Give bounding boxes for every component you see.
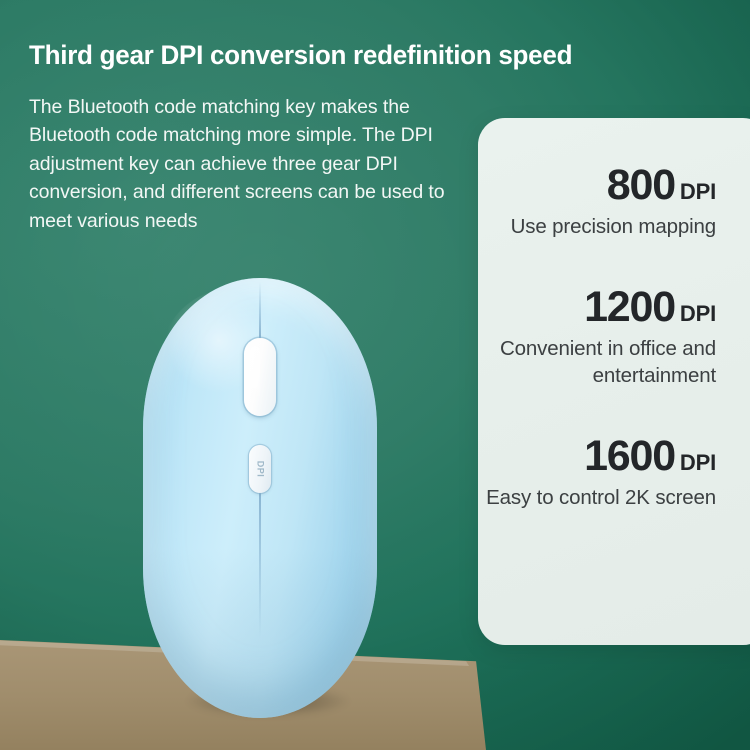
mouse-dpi-button-label: DPI <box>255 461 265 478</box>
spec-card: 800 DPI Use precision mapping 1200 DPI C… <box>478 118 750 645</box>
spec-value-row: 1200 DPI <box>478 286 716 330</box>
mouse-highlight <box>159 288 309 438</box>
spec-unit: DPI <box>680 450 716 476</box>
mouse-seam-lower <box>259 478 261 638</box>
spec-value-row: 1600 DPI <box>478 435 716 479</box>
spec-unit: DPI <box>680 179 716 205</box>
body-paragraph: The Bluetooth code matching key makes th… <box>29 93 459 236</box>
spec-item-1200: 1200 DPI Convenient in office and entert… <box>478 286 716 389</box>
spec-item-1600: 1600 DPI Easy to control 2K screen <box>478 435 716 511</box>
mouse-dpi-button: DPI <box>249 445 271 493</box>
spec-value: 1200 <box>584 286 675 330</box>
marketing-banner: Third gear DPI conversion redefinition s… <box>0 0 750 750</box>
mouse-seam-upper <box>259 282 261 342</box>
page-title: Third gear DPI conversion redefinition s… <box>29 40 705 71</box>
spec-value-row: 800 DPI <box>478 164 716 208</box>
spec-description: Easy to control 2K screen <box>478 484 716 511</box>
spec-value: 800 <box>607 164 675 208</box>
spec-unit: DPI <box>680 301 716 327</box>
spec-description: Use precision mapping <box>478 213 716 240</box>
mouse-scroll-wheel <box>244 338 276 416</box>
product-image-mouse: DPI <box>143 278 377 718</box>
spec-value: 1600 <box>584 435 675 479</box>
spec-list: 800 DPI Use precision mapping 1200 DPI C… <box>478 164 716 511</box>
spec-description: Convenient in office and entertainment <box>478 335 716 389</box>
spec-item-800: 800 DPI Use precision mapping <box>478 164 716 240</box>
